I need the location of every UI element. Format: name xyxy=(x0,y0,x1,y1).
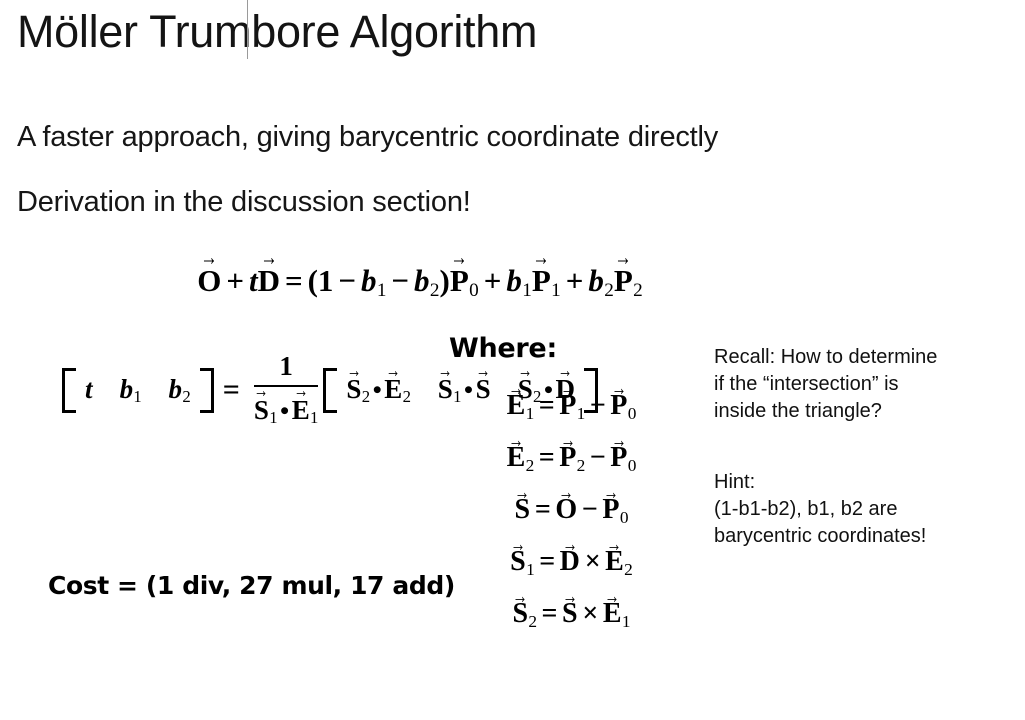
hint-line-1: Hint: xyxy=(714,469,1014,496)
denom-dot-operator: • xyxy=(278,396,292,425)
def-b-0: P xyxy=(610,392,627,420)
hint-line-3: barycentric coordinates! xyxy=(714,523,1014,550)
main-plus-1: + xyxy=(221,263,249,298)
rhs-left-0: S xyxy=(346,374,361,405)
matrix-lhs-row: t xyxy=(75,367,110,411)
lhs-sym-0: t xyxy=(85,374,93,404)
where-heading: Where: xyxy=(449,333,557,364)
b-term-c: b xyxy=(506,263,522,298)
where-definition-row: S1=D×E2 xyxy=(449,548,694,600)
vector-P1-sub: 1 xyxy=(551,280,561,301)
def-b-sub-2: 0 xyxy=(619,508,628,527)
matrix-lhs-row: b2 xyxy=(159,367,201,411)
cost-label: Cost = (1 div, 27 mul, 17 add) xyxy=(48,571,455,600)
def-a-sub-1: 2 xyxy=(576,456,585,475)
vector-P2-sub: 2 xyxy=(633,280,643,301)
denom-vector-S1-sub: 1 xyxy=(269,408,278,427)
vector-D: D xyxy=(258,262,280,301)
vector-P2: P xyxy=(614,262,633,301)
def-equals-2: = xyxy=(530,494,555,525)
rhs-left-sub-0: 2 xyxy=(361,387,370,406)
where-definition-row: E2=P2−P0 xyxy=(449,444,694,496)
def-a-sub-0: 1 xyxy=(576,404,585,423)
main-minus-2: − xyxy=(386,263,414,298)
lhs-sym-1: b xyxy=(120,374,134,404)
def-equals-0: = xyxy=(534,390,559,421)
matrix-equals-sign: = xyxy=(214,373,249,407)
vector-P0: P xyxy=(450,262,469,301)
hint-line-2: (1-b1-b2), b1, b2 are xyxy=(714,496,1014,523)
def-op-0: − xyxy=(585,390,610,421)
def-b-sub-3: 2 xyxy=(624,560,633,579)
lhs-sym-2: b xyxy=(169,374,183,404)
vector-P0-sub: 0 xyxy=(469,280,479,301)
where-definitions-list: E1=P1−P0 E2=P2−P0 S=O−P0 S1=D×E2 S2=S×E1 xyxy=(449,392,694,652)
b-term-a-sub: 1 xyxy=(376,280,386,301)
body-text-line-2: Derivation in the discussion section! xyxy=(17,186,471,219)
def-lhs-1: E xyxy=(507,444,526,472)
def-b-4: E xyxy=(603,600,622,628)
def-b-sub-1: 0 xyxy=(627,456,636,475)
recall-line-1: Recall: How to determine xyxy=(714,344,1014,371)
lhs-sub-2: 2 xyxy=(182,387,191,406)
reciprocal-fraction: 1 S1•E1 xyxy=(249,352,324,428)
def-a-2: O xyxy=(555,496,577,524)
def-lhs-4: S xyxy=(512,600,528,628)
page-title: Möller Trumbore Algorithm xyxy=(17,6,537,58)
main-plus-2: + xyxy=(479,263,507,298)
lhs-column-vector: t b1 b2 xyxy=(62,368,214,413)
hint-note: Hint: (1-b1-b2), b1, b2 are barycentric … xyxy=(714,469,1014,550)
denom-vector-E1-sub: 1 xyxy=(310,408,319,427)
text-cursor-caret xyxy=(247,0,248,59)
literal-one: 1 xyxy=(318,263,334,298)
def-b-3: E xyxy=(605,548,624,576)
rhs-right-sub-0: 2 xyxy=(402,387,411,406)
def-b-sub-4: 1 xyxy=(622,612,631,631)
def-a-0: P xyxy=(559,392,576,420)
def-b-sub-0: 0 xyxy=(627,404,636,423)
main-minus-1: − xyxy=(333,263,361,298)
lhs-sub-1: 1 xyxy=(133,387,142,406)
def-equals-1: = xyxy=(534,442,559,473)
b-term-d: b xyxy=(588,263,604,298)
b-term-b-sub: 2 xyxy=(430,280,440,301)
def-lhs-sub-4: 2 xyxy=(528,612,537,631)
fraction-numerator: 1 xyxy=(279,352,293,385)
scalar-t: t xyxy=(249,263,258,298)
rhs-dot-0: • xyxy=(370,375,384,404)
close-paren: ) xyxy=(440,263,450,298)
vector-P1: P xyxy=(532,262,551,301)
rhs-right-0: E xyxy=(384,374,402,405)
where-definition-row: E1=P1−P0 xyxy=(449,392,694,444)
matrix-rhs-row: S2•E2 xyxy=(336,367,427,411)
b-term-d-sub: 2 xyxy=(604,280,614,301)
b-term-a: b xyxy=(361,263,377,298)
recall-note: Recall: How to determine if the “interse… xyxy=(714,344,1014,425)
def-op-1: − xyxy=(585,442,610,473)
def-lhs-sub-1: 2 xyxy=(525,456,534,475)
def-op-3: × xyxy=(580,546,605,577)
def-lhs-sub-0: 1 xyxy=(525,404,534,423)
vector-O: O xyxy=(197,262,221,301)
def-lhs-sub-3: 1 xyxy=(526,560,535,579)
body-text-line-1: A faster approach, giving barycentric co… xyxy=(17,121,718,154)
def-lhs-2: S xyxy=(515,496,531,524)
def-a-1: P xyxy=(559,444,576,472)
def-a-4: S xyxy=(562,600,578,628)
denom-vector-S1: S xyxy=(254,394,269,426)
main-equation: O+tD=(1−b1−b2)P0+b1P1+b2P2 xyxy=(0,262,840,303)
def-equals-4: = xyxy=(537,598,562,629)
def-op-4: × xyxy=(578,598,603,629)
def-b-1: P xyxy=(610,444,627,472)
where-definition-row: S2=S×E1 xyxy=(449,600,694,652)
main-equals: = xyxy=(280,263,308,298)
fraction-denominator: S1•E1 xyxy=(254,387,319,429)
def-a-3: D xyxy=(560,548,580,576)
b-term-b: b xyxy=(414,263,430,298)
matrix-lhs-row: b1 xyxy=(110,367,159,411)
b-term-c-sub: 1 xyxy=(522,280,532,301)
def-op-2: − xyxy=(577,494,602,525)
recall-line-3: inside the triangle? xyxy=(714,398,1014,425)
main-plus-3: + xyxy=(561,263,589,298)
def-lhs-0: E xyxy=(507,392,526,420)
open-paren: ( xyxy=(308,263,318,298)
denom-vector-E1: E xyxy=(292,394,310,426)
def-equals-3: = xyxy=(535,546,560,577)
def-b-2: P xyxy=(602,496,619,524)
recall-line-2: if the “intersection” is xyxy=(714,371,1014,398)
def-lhs-3: S xyxy=(510,548,526,576)
where-definition-row: S=O−P0 xyxy=(449,496,694,548)
